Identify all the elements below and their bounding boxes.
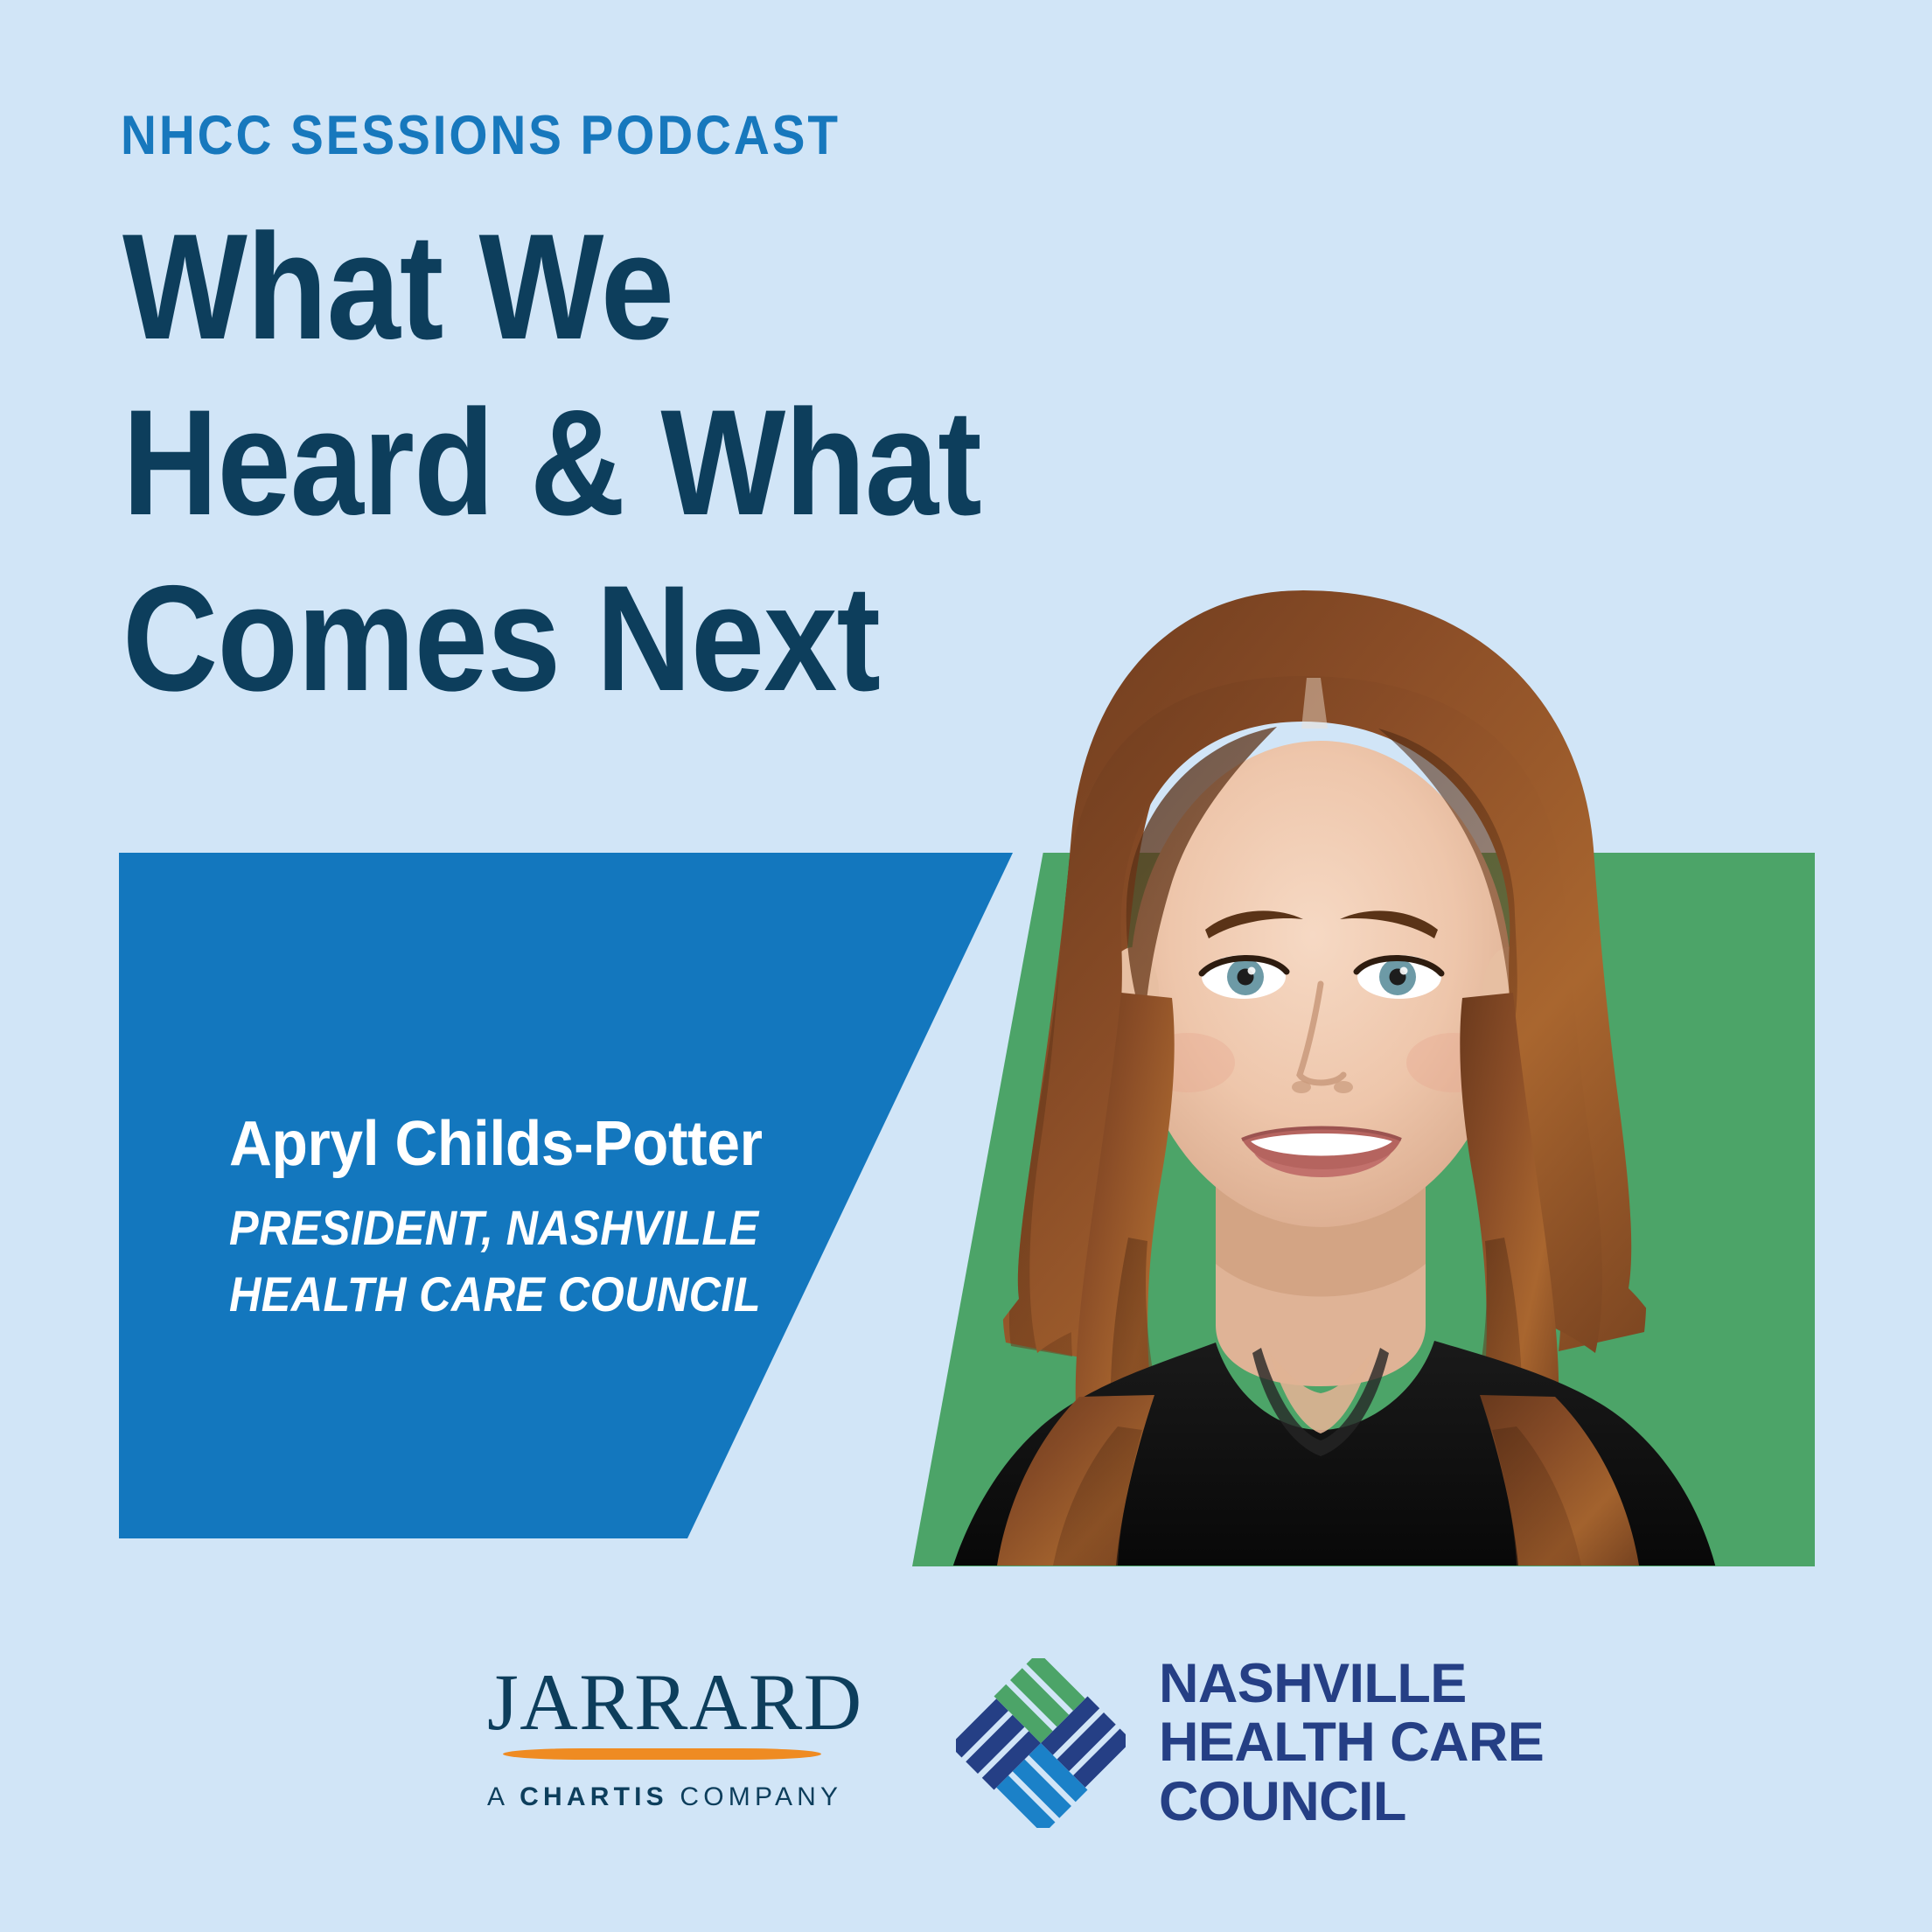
nhcc-wordmark-line-1: NASHVILLE bbox=[1159, 1655, 1544, 1713]
speaker-portrait-photo bbox=[866, 573, 1784, 1566]
jarrard-tagline-brand: CHARTIS bbox=[520, 1782, 668, 1811]
jarrard-tagline-a: A bbox=[487, 1782, 508, 1811]
speaker-role: PRESIDENT, NASHVILLE HEALTH CARE COUNCIL bbox=[229, 1195, 761, 1328]
jarrard-wordmark: JARRARD bbox=[487, 1662, 837, 1742]
footer-logos: JARRARD A CHARTIS COMPANY bbox=[0, 1662, 1932, 1924]
speaker-role-line-1: PRESIDENT, NASHVILLE bbox=[229, 1195, 761, 1261]
speaker-name: Apryl Childs-Potter bbox=[229, 1112, 785, 1175]
jarrard-tagline: A CHARTIS COMPANY bbox=[487, 1782, 837, 1812]
nhcc-wordmark-line-2: HEALTH CARE bbox=[1159, 1713, 1544, 1772]
nhcc-wordmark-line-3: COUNCIL bbox=[1159, 1773, 1544, 1831]
page-title-line-1: What We bbox=[122, 199, 1123, 375]
page-title-line-2: Heard & What bbox=[122, 375, 1123, 551]
jarrard-tagline-company: COMPANY bbox=[680, 1782, 842, 1811]
podcast-cover-art: NHCC SESSIONS PODCAST What We Heard & Wh… bbox=[0, 0, 1932, 1932]
orange-swoosh-icon bbox=[503, 1748, 821, 1760]
nhcc-wordmark: NASHVILLE HEALTH CARE COUNCIL bbox=[1159, 1655, 1544, 1831]
nhcc-diamond-weave-icon bbox=[956, 1658, 1126, 1828]
speaker-role-line-2: HEALTH CARE COUNCIL bbox=[229, 1261, 761, 1328]
nashville-health-care-council-logo[interactable]: NASHVILLE HEALTH CARE COUNCIL bbox=[956, 1655, 1544, 1831]
podcast-series-eyebrow: NHCC SESSIONS PODCAST bbox=[121, 108, 840, 164]
jarrard-logo[interactable]: JARRARD A CHARTIS COMPANY bbox=[487, 1662, 837, 1812]
speaker-info-block: Apryl Childs-Potter PRESIDENT, NASHVILLE… bbox=[229, 1112, 820, 1328]
